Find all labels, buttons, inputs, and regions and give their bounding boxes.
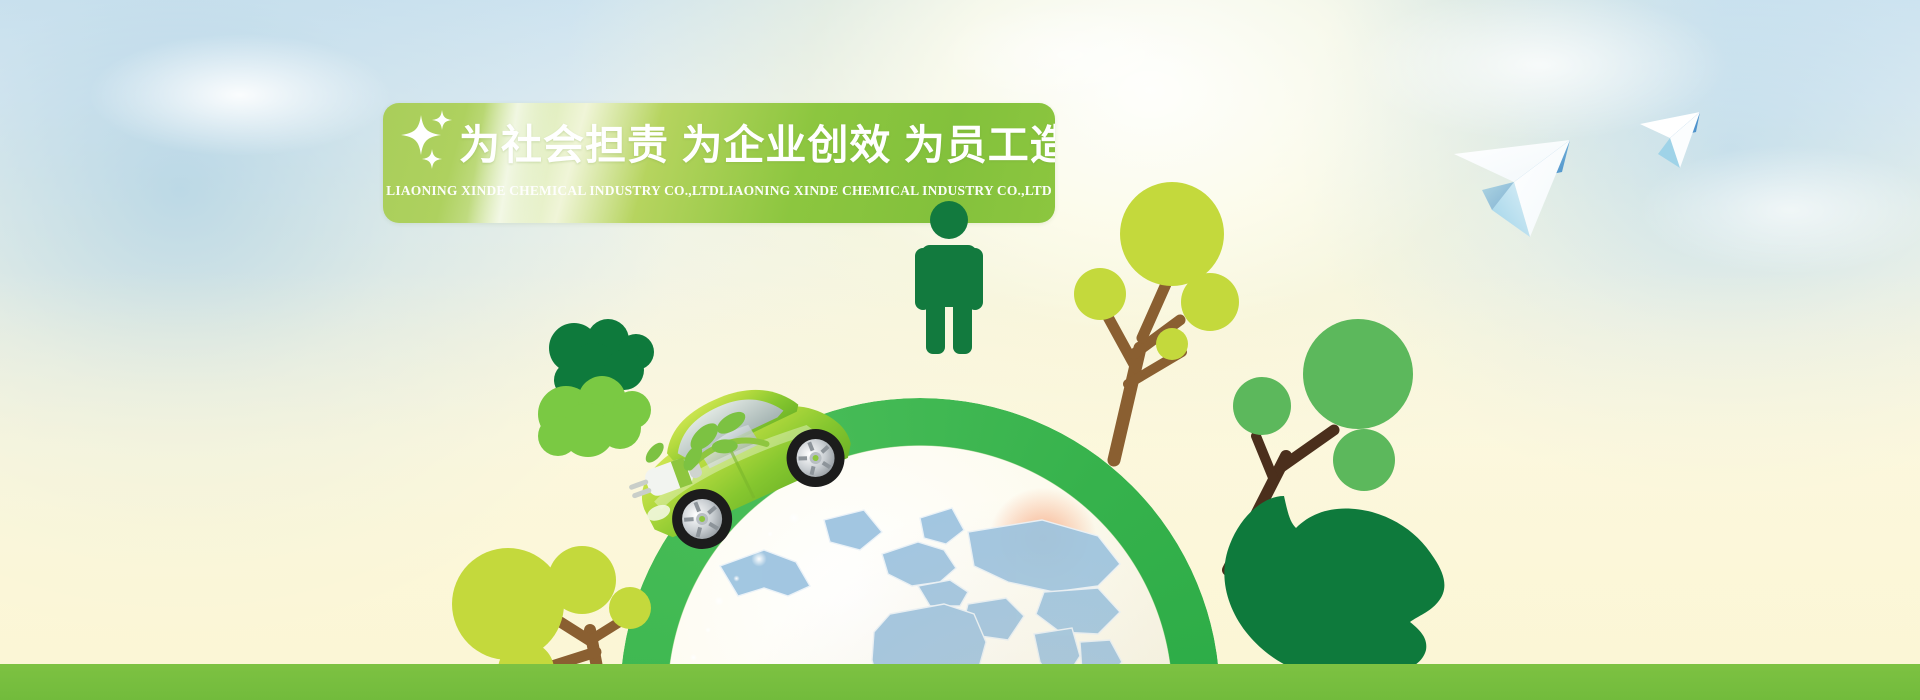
- electric-car-icon: [618, 372, 878, 567]
- banner-root: 为社会担责 为企业创效 为员工造福 LIAONING XINDE CHEMICA…: [0, 0, 1920, 700]
- headline-text: 为社会担责 为企业创效 为员工造福: [459, 117, 1039, 173]
- subline-text: LIAONING XINDE CHEMICAL INDUSTRY CO.,LTD…: [383, 183, 1055, 199]
- ground-strip: [0, 664, 1920, 700]
- paper-airplane-icon: [1452, 132, 1602, 247]
- person-figure-icon: [913, 200, 985, 360]
- paper-airplane-icon: [1638, 110, 1718, 177]
- sparkle-icon: [397, 109, 463, 184]
